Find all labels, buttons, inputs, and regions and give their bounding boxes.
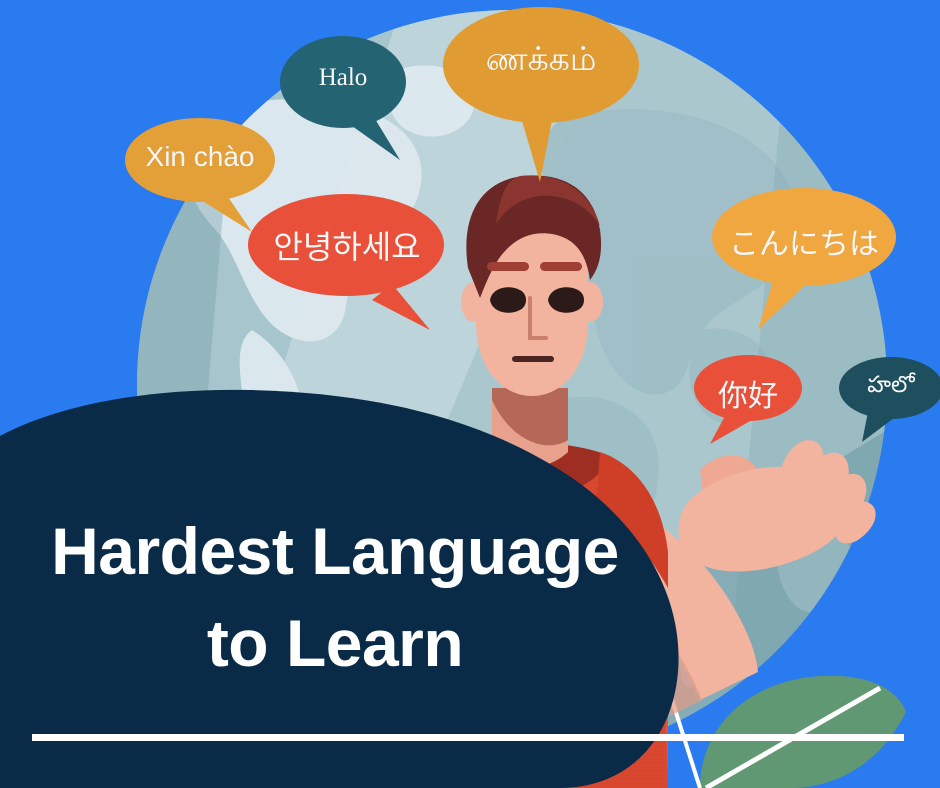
bubble-text-korean: 안녕하세요 <box>256 222 438 268</box>
bubble-text-chinese: 你好 <box>706 371 790 415</box>
bubble-text-tamil: ணக்கம் <box>446 40 636 83</box>
bubble-text-xinchao: Xin chào <box>130 141 270 173</box>
bubble-text-telugu: హలో <box>850 371 932 404</box>
bubble-text-halo: Halo <box>292 64 394 92</box>
bubble-text-japanese: こんにちは <box>718 219 890 263</box>
poster-canvas: Halo ணக்கம் Xin chào 안녕하세요 こんにちは 你好 హలో … <box>0 0 940 788</box>
poster-illustration <box>0 0 940 788</box>
title-underline-rule <box>32 734 904 741</box>
